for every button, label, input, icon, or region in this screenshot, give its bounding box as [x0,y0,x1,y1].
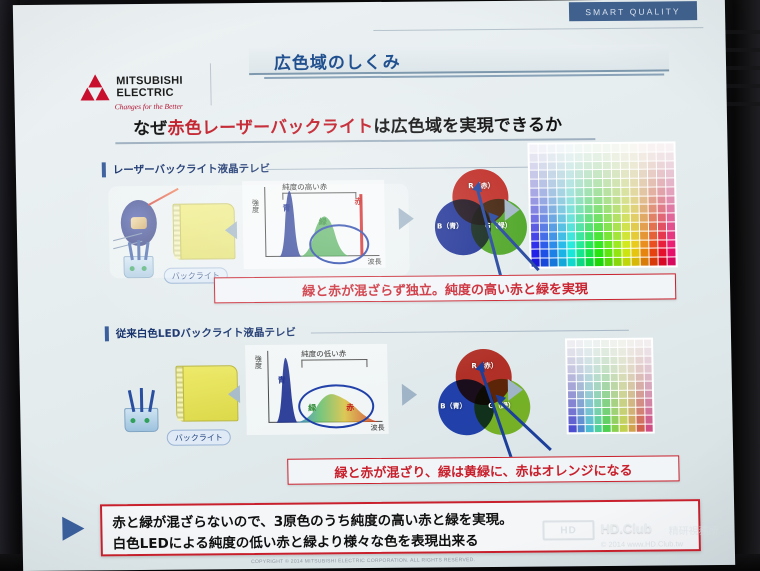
gamut-cell [558,215,566,223]
gamut-cell [568,391,576,399]
gamut-cell [584,170,592,178]
gamut-cell [548,162,556,170]
gamut-cell [656,152,664,160]
gamut-cell [603,205,611,213]
venn-label-blue-laser: B（青） [437,221,464,231]
gamut-cell [593,365,601,373]
gamut-cell [627,348,635,356]
gamut-cell [559,259,567,267]
gamut-cell [648,161,656,169]
gamut-cell [584,153,592,161]
gamut-cell [593,162,601,170]
chevron-left-icon-laser [225,221,237,239]
gamut-cell [604,241,612,249]
gamut-cell [568,408,576,416]
spectrum-chart-white-led: 強度 波長 純度の低い赤 青 緑 赤 [245,344,389,435]
gamut-cell [666,152,674,160]
gamut-cell [539,188,547,196]
gamut-cell [630,170,638,178]
gamut-cell [568,399,576,407]
gamut-cell [640,258,648,266]
gamut-cell [558,241,566,249]
gamut-cell [558,206,566,214]
gamut-cell [611,144,619,152]
gamut-cell [628,399,636,407]
gamut-cell [644,365,652,373]
gamut-cell [539,144,547,152]
gamut-cell [576,188,584,196]
gamut-cell [575,153,583,161]
gamut-cell [611,399,619,407]
gamut-cell [539,171,547,179]
gamut-cell [636,365,644,373]
gamut-cell [576,391,584,399]
gamut-cell [593,153,601,161]
gamut-cell [540,215,548,223]
gamut-cell [566,153,574,161]
smart-quality-badge: SMART QUALITY [569,1,697,21]
gamut-cell [594,188,602,196]
gamut-cell [603,214,611,222]
watermark-subtitle: 精研視務所 [668,522,718,537]
gamut-cell [640,231,648,239]
gamut-cell [603,424,611,432]
section-header-laser: レーザーバックライト液晶テレビ [102,161,270,177]
gamut-cell [635,340,643,348]
gamut-cell [593,348,601,356]
gamut-cell [657,205,665,213]
gamut-cell [636,407,644,415]
peak-label-blue-white-led: 青 [278,375,286,386]
gamut-cell [602,399,610,407]
gamut-cell [548,144,556,152]
backlight-label-white-led: バックライト [167,429,231,446]
gamut-cell [604,232,612,240]
gamut-cell [577,241,585,249]
color-gamut-grid-white-led [565,338,655,435]
gamut-cell [613,249,621,257]
gamut-cell [593,382,601,390]
gamut-cell [585,416,593,424]
callout-banner-laser: 緑と赤が混ざらず独立。純度の高い赤と緑を実現 [214,273,676,303]
gamut-cell [557,144,565,152]
gamut-cell [627,374,635,382]
gamut-cell [593,340,601,348]
gamut-cell [594,399,602,407]
gamut-cell [603,223,611,231]
brand-name-line2: ELECTRIC [116,87,174,99]
gamut-cell [611,161,619,169]
gamut-cell [585,399,593,407]
gamut-cell [636,399,644,407]
gamut-cell [645,399,653,407]
highlight-ellipse-laser [309,224,370,265]
gamut-cell [567,340,575,348]
gamut-cell [569,425,577,433]
gamut-cell [620,144,628,152]
chevron-left-icon-white-led [228,385,240,403]
gamut-cell [644,340,652,348]
gamut-cell [619,416,627,424]
gamut-cell [639,188,647,196]
gamut-cell [568,374,576,382]
gamut-cell [548,153,556,161]
gamut-cell [639,196,647,204]
conclusion-line-1: 赤と緑が混ざらないので、3原色のうち純度の高い赤と緑を実現。 [112,508,513,531]
gamut-cell [622,240,630,248]
gamut-cell [585,188,593,196]
gamut-cell [622,232,630,240]
gamut-cell [576,214,584,222]
gamut-cell [621,214,629,222]
gamut-cell [585,223,593,231]
gamut-cell [631,240,639,248]
gamut-cell [667,205,675,213]
gamut-cell [667,222,675,230]
gamut-cell [586,250,594,258]
gamut-cell [640,249,648,257]
gamut-cell [612,170,620,178]
gamut-cell [593,144,601,152]
gamut-cell [549,241,557,249]
conclusion-line-2: 白色LEDによる純度の低い赤と緑より様々な色を表現出来る [112,529,478,552]
gamut-cell [621,170,629,178]
gamut-cell [602,144,610,152]
gamut-cell [635,357,643,365]
gamut-cell [540,241,548,249]
subtitle-highlight: 赤色レーザーバックライト [167,117,373,139]
gamut-cell [639,205,647,213]
gamut-cell [549,206,557,214]
gamut-cell [665,143,673,151]
gamut-cell [550,250,558,258]
gamut-cell [548,180,556,188]
gamut-cell [648,170,656,178]
gamut-cell [558,232,566,240]
gamut-cell [567,241,575,249]
gamut-cell [577,425,585,433]
gamut-cell [636,382,644,390]
gamut-cell [658,249,666,257]
gamut-cell [568,258,576,266]
gamut-cell [649,249,657,257]
callout-banner-white-led: 緑と赤が混ざり、緑は黄緑に、赤はオレンジになる [287,455,679,484]
gamut-cell [602,170,610,178]
section-header-white-led: 従来白色LEDバックライト液晶テレビ [105,325,296,342]
gamut-cell [531,241,539,249]
hdclub-watermark: HD HD.Club 精研視務所 © 2014 www.HD.Club.tw [542,515,735,561]
gamut-cell [548,171,556,179]
gamut-cell [594,416,602,424]
gamut-cell [567,197,575,205]
chart-ylabel-laser: 強度 [250,199,260,213]
gamut-cell [576,382,584,390]
gamut-cell [628,424,636,432]
gamut-cell [631,223,639,231]
gamut-cell [666,187,674,195]
gamut-cell [648,205,656,213]
gamut-cell [648,179,656,187]
gamut-cell [584,144,592,152]
gamut-cell [648,187,656,195]
gamut-cell [593,391,601,399]
gamut-cell [667,249,675,257]
gamut-cell [540,206,548,214]
gamut-cell [584,162,592,170]
gamut-cell [594,425,602,433]
gamut-cell [531,232,539,240]
gamut-cell [644,373,652,381]
gamut-cell [530,188,538,196]
gamut-cell [658,214,666,222]
peak-label-blue-laser: 青 [282,203,290,214]
gamut-cell [557,162,565,170]
gamut-cell [618,340,626,348]
gamut-cell [566,171,574,179]
gamut-cell [649,231,657,239]
chart-xlabel-laser: 波長 [367,257,381,267]
gamut-cell [640,223,648,231]
gamut-cell [622,223,630,231]
gamut-cell [627,340,635,348]
gamut-cell [667,258,675,266]
gamut-cell [621,188,629,196]
gamut-cell [585,232,593,240]
gamut-cell [568,250,576,258]
gamut-cell [586,241,594,249]
gamut-cell [530,153,538,161]
gamut-cell [630,214,638,222]
gamut-cell [531,250,539,258]
gamut-cell [529,145,537,153]
gamut-cell [531,206,539,214]
gamut-cell [603,197,611,205]
gamut-cell [576,206,584,214]
gamut-cell [612,223,620,231]
gamut-cell [629,152,637,160]
gamut-cell [594,205,602,213]
gamut-cell [602,162,610,170]
gamut-cell [639,179,647,187]
gamut-cell [611,424,619,432]
gamut-cell [612,179,620,187]
gamut-cell [667,214,675,222]
gamut-cell [576,223,584,231]
gamut-cell [656,143,664,151]
gamut-cell [657,179,665,187]
gamut-cell [585,391,593,399]
gamut-cell [604,249,612,257]
gamut-cell [612,205,620,213]
gamut-cell [627,357,635,365]
gamut-cell [584,340,592,348]
gamut-cell [612,197,620,205]
subtitle-suffix: は広色域を実現できるか [373,115,562,137]
gamut-cell [630,179,638,187]
gamut-cell [575,162,583,170]
gamut-cell [585,197,593,205]
gamut-cell [577,416,585,424]
gamut-cell [557,153,565,161]
gamut-cell [584,357,592,365]
gamut-cell [630,205,638,213]
gamut-cell [593,170,601,178]
gamut-cell [595,241,603,249]
gamut-cell [549,215,557,223]
gamut-cell [645,424,653,432]
gamut-cell [566,162,574,170]
gamut-cell [531,215,539,223]
conclusion-arrow-icon [62,517,84,541]
gamut-cell [550,259,558,267]
header-divider [373,27,703,31]
venn-label-blue-white-led: B（青） [440,401,467,411]
subtitle-prefix: なぜ [133,119,168,139]
gamut-cell [541,259,549,267]
gamut-cell [635,348,643,356]
gamut-cell [567,188,575,196]
gamut-cell [531,224,539,232]
gamut-cell [530,197,538,205]
slide-subtitle: なぜ赤色レーザーバックライトは広色域を実現できるか [133,110,653,140]
gamut-cell [540,232,548,240]
gamut-cell [539,162,547,170]
gamut-cell [602,382,610,390]
gamut-cell [610,391,618,399]
gamut-cell [576,357,584,365]
gamut-cell [575,171,583,179]
gamut-cell [602,365,610,373]
gamut-cell [601,357,609,365]
gamut-cell [594,408,602,416]
gamut-cell [585,206,593,214]
gamut-cell [567,232,575,240]
gamut-cell [549,232,557,240]
chevron-right-icon-laser [399,208,414,230]
gamut-cell [577,258,585,266]
gamut-cell [631,232,639,240]
gamut-cell [627,365,635,373]
gamut-cell [584,349,592,357]
spectrum-chart-laser: 強度 波長 純度の高い赤 青 緑 赤 [242,180,386,269]
gamut-cell [611,153,619,161]
gamut-cell [602,153,610,161]
peak-label-red-laser: 赤 [354,196,362,207]
gamut-cell [530,162,538,170]
gamut-cell [645,416,653,424]
gamut-cell [540,224,548,232]
gamut-cell [639,170,647,178]
chevron-right-icon-gamut-white-led [508,379,523,401]
gamut-cell [667,240,675,248]
gamut-cell [576,232,584,240]
copyright-notice: COPYRIGHT © 2014 MITSUBISHI ELECTRIC COR… [251,557,475,565]
gamut-cell [629,144,637,152]
gamut-cell [540,250,548,258]
gamut-cell [585,374,593,382]
gamut-cell [575,179,583,187]
led-dot-2 [144,418,149,423]
gamut-cell [611,407,619,415]
gamut-cell [644,390,652,398]
gamut-cell [628,416,636,424]
gamut-cell [557,179,565,187]
gamut-cell [559,250,567,258]
gamut-cell [638,152,646,160]
gamut-cell [644,356,652,364]
gamut-cell [627,382,635,390]
gamut-cell [645,407,653,415]
gamut-cell [595,232,603,240]
gamut-cell [619,365,627,373]
chart-xlabel-white-led: 波長 [371,423,385,433]
chevron-right-icon-gamut-laser [504,199,519,221]
gamut-cell [630,188,638,196]
gamut-cell [647,144,655,152]
gamut-cell [619,407,627,415]
gamut-cell [658,231,666,239]
gamut-cell [610,340,618,348]
gamut-cell [603,188,611,196]
gamut-cell [585,365,593,373]
gamut-cell [576,349,584,357]
gamut-cell [610,365,618,373]
gamut-cell [568,366,576,374]
gamut-cell [568,416,576,424]
gamut-cell [602,408,610,416]
brand-name-line1: MITSUBISHI [116,75,183,88]
watermark-logo-icon: HD [542,520,594,540]
gamut-cell [620,153,628,161]
gamut-cell [558,197,566,205]
gamut-cell [584,179,592,187]
gamut-cell [644,382,652,390]
gamut-cell [602,374,610,382]
watermark-title: HD.Club [600,521,652,536]
backlight-edge-white-led [176,367,184,421]
gamut-cell [602,391,610,399]
gamut-cell [638,144,646,152]
gamut-cell [604,258,612,266]
gamut-cell [666,179,674,187]
gamut-cell [621,205,629,213]
gamut-cell [630,196,638,204]
page-title: 広色域のしくみ [274,46,654,74]
gamut-cell [619,382,627,390]
gamut-cell [566,144,574,152]
gamut-cell [629,161,637,169]
gamut-cell [631,258,639,266]
gamut-cell [576,340,584,348]
gamut-cell [610,374,618,382]
gamut-cell [666,161,674,169]
gamut-cell [648,196,656,204]
gamut-cell [618,348,626,356]
slide-canvas: SMART QUALITY 広色域のしくみ MITSUBISHI ELECTRI… [13,0,735,571]
gamut-cell [627,390,635,398]
gamut-cell [636,416,644,424]
gamut-cell [567,357,575,365]
gamut-cell [575,144,583,152]
gamut-cell [613,258,621,266]
gamut-cell [594,179,602,187]
gamut-cell [657,170,665,178]
gamut-cell [657,187,665,195]
chart-ylabel-white-led: 強度 [253,355,263,369]
gamut-cell [567,223,575,231]
gamut-cell [667,231,675,239]
logo-divider [210,63,212,105]
